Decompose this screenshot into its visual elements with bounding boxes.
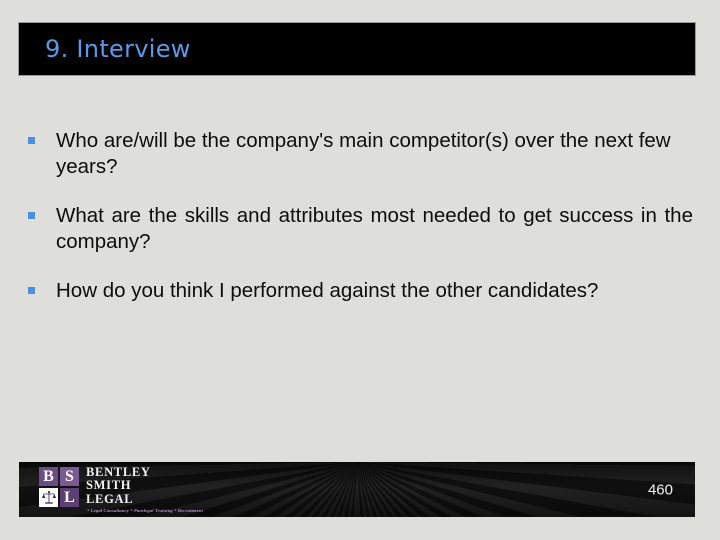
- bentley-smith-legal-logo: B S L B: [39, 467, 203, 513]
- slide-body: Who are/will be the company's main compe…: [19, 128, 695, 326]
- slide-footer-bar: B S L B: [19, 462, 695, 517]
- bullet-text: Who are/will be the company's main compe…: [56, 128, 695, 181]
- list-item: Who are/will be the company's main compe…: [19, 128, 695, 181]
- page-title: 9. Interview: [45, 35, 191, 63]
- slide-title-bar: 9. Interview: [19, 23, 695, 75]
- bullet-text: What are the skills and attributes most …: [56, 203, 695, 256]
- logo-monogram: B S L: [39, 467, 79, 507]
- logo-word-line: LEGAL: [86, 493, 203, 506]
- page-number: 460: [648, 481, 673, 498]
- square-bullet-icon: [28, 287, 35, 294]
- logo-tagline: * Legal Consultancy * Paralegal Training…: [87, 508, 203, 513]
- square-bullet-icon: [28, 137, 35, 144]
- list-item: What are the skills and attributes most …: [19, 203, 695, 256]
- scales-of-justice-icon: [39, 488, 58, 507]
- monogram-letter-l: L: [60, 488, 79, 507]
- scales-of-justice-svg: [41, 490, 57, 506]
- monogram-letter-b: B: [39, 467, 58, 486]
- logo-word-line: SMITH: [86, 479, 203, 492]
- logo-wordmark: BENTLEY SMITH LEGAL * Legal Consultancy …: [86, 466, 203, 513]
- slide: 9. Interview Who are/will be the company…: [0, 0, 720, 540]
- logo-word-line: BENTLEY: [86, 466, 203, 479]
- monogram-letter-s: S: [60, 467, 79, 486]
- square-bullet-icon: [28, 212, 35, 219]
- list-item: How do you think I performed against the…: [19, 278, 695, 304]
- bullet-text: How do you think I performed against the…: [56, 278, 695, 304]
